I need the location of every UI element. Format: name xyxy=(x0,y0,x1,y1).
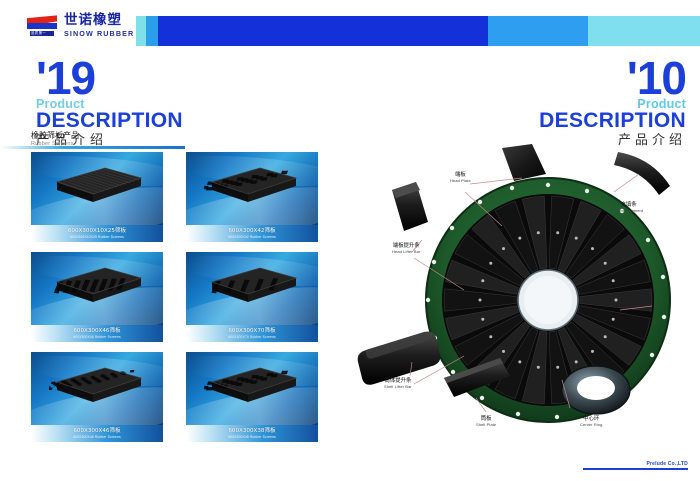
product-image xyxy=(186,252,318,325)
header-bar-0 xyxy=(136,16,146,46)
logo-mark-sub: 品质第一 xyxy=(31,31,46,36)
catalog-spread: 品质第一 世诺橡塑 SINOW RUBBER '19 Product DESCR… xyxy=(0,0,700,481)
product-caption: 600X300X38筛板 600X300X38 Rubber Screens xyxy=(186,425,318,442)
diagram-label-en: Shell Lifter Bar xyxy=(384,384,412,389)
product-image xyxy=(31,252,163,325)
filling-segment-part xyxy=(614,152,670,195)
product-caption: 600X300X70筛板 600X300X70 Rubber Screens xyxy=(186,325,318,342)
diagram-label-head-lifter-bar: 端板提升条 Head Lifter Bar xyxy=(392,243,420,254)
diagram-label-en: Head Plate xyxy=(450,178,471,183)
page-header: 品质第一 世诺橡塑 SINOW RUBBER xyxy=(0,0,700,52)
product-card[interactable]: 600X300X46筛板 600X300X46 Rubber Screens xyxy=(31,352,163,442)
header-bar-1 xyxy=(146,16,158,46)
product-image xyxy=(31,352,163,425)
product-image xyxy=(186,352,318,425)
header-bar-4 xyxy=(588,16,700,46)
diagram-label-shell-lifter-bar: 筒体提升条 Shell Lifter Bar xyxy=(384,378,412,389)
footer-company: Prelude Co.,LTD xyxy=(583,461,688,467)
product-name-en: 600X300X38 Rubber Screens xyxy=(228,435,276,439)
left-description-label: DESCRIPTION xyxy=(36,110,183,132)
product-caption: 600X300X42筛板 600X300X42 Rubber Screens xyxy=(186,225,318,242)
right-page-number: '10 xyxy=(539,58,686,98)
product-caption: 600X300X46筛板 600X300X46 Rubber Screens xyxy=(31,325,163,342)
mill-liner-diagram: 端板 Head Plate充填条 Filling Segment端板提升条 He… xyxy=(352,140,700,470)
center-ring-part xyxy=(562,366,630,414)
diagram-label-shell-plate: 筒板 Shell Plate xyxy=(476,416,496,427)
diagram-label-filling-segment: 充填条 Filling Segment xyxy=(614,202,643,213)
product-name-en: 600X300X46 Rubber Screens xyxy=(73,435,121,439)
product-card[interactable]: 600X300X42筛板 600X300X42 Rubber Screens xyxy=(186,152,318,242)
header-bar-2 xyxy=(158,16,488,46)
product-name-en: 600X300X70 Rubber Screens xyxy=(228,335,276,339)
header-bar-3 xyxy=(488,16,588,46)
left-page-number: '19 xyxy=(36,58,183,98)
brand-name-cn: 世诺橡塑 xyxy=(64,14,134,28)
diagram-label-en: Shell Plate xyxy=(476,422,496,427)
diagram-label-head-plate: 端板 Head Plate xyxy=(450,172,471,183)
head-plate-part xyxy=(502,144,546,181)
center-bore xyxy=(518,270,578,330)
diagram-label-en: Filling Segment xyxy=(614,208,643,213)
diagram-label-en: Head Lifter Bar xyxy=(392,249,420,254)
product-card[interactable]: 600X300X70筛板 600X300X70 Rubber Screens xyxy=(186,252,318,342)
product-card[interactable]: 600X300X38筛板 600X300X38 Rubber Screens xyxy=(186,352,318,442)
product-caption: 600X300X10X25筛板 600X300X10X25 Rubber Scr… xyxy=(31,225,163,242)
head-lifter-bar-part xyxy=(392,182,428,231)
right-description-label: DESCRIPTION xyxy=(539,110,686,132)
product-image xyxy=(31,152,163,225)
page-footer: Prelude Co.,LTD xyxy=(583,461,688,470)
header-color-bars xyxy=(136,16,700,46)
diagram-label-en: Center Ring xyxy=(580,422,602,427)
accent-divider xyxy=(0,146,185,149)
product-name-en: 600X300X46 Rubber Screens xyxy=(73,335,121,339)
right-page-title: '10 Product DESCRIPTION 产品介绍 xyxy=(539,58,686,150)
product-image xyxy=(186,152,318,225)
footer-rule xyxy=(583,468,688,470)
brand-name-en: SINOW RUBBER xyxy=(64,30,134,37)
product-name-en: 600X300X42 Rubber Screens xyxy=(228,235,276,239)
product-grid: 600X300X10X25筛板 600X300X10X25 Rubber Scr… xyxy=(31,152,331,442)
product-card[interactable]: 600X300X10X25筛板 600X300X10X25 Rubber Scr… xyxy=(31,152,163,242)
sinow-logo-icon: 品质第一 xyxy=(27,14,57,36)
product-name-en: 600X300X10X25 Rubber Screens xyxy=(70,235,124,239)
mill-liner-illustration xyxy=(352,140,700,470)
diagram-label-center-ring: 中心环 Center Ring xyxy=(580,416,602,427)
product-caption: 600X300X46筛板 600X300X46 Rubber Screens xyxy=(31,425,163,442)
brand-logo: 品质第一 世诺橡塑 SINOW RUBBER xyxy=(27,14,134,37)
product-card[interactable]: 600X300X46筛板 600X300X46 Rubber Screens xyxy=(31,252,163,342)
shell-lifter-bar-part xyxy=(358,332,441,385)
subheading-cn: 橡胶筛板产品 xyxy=(31,131,79,141)
